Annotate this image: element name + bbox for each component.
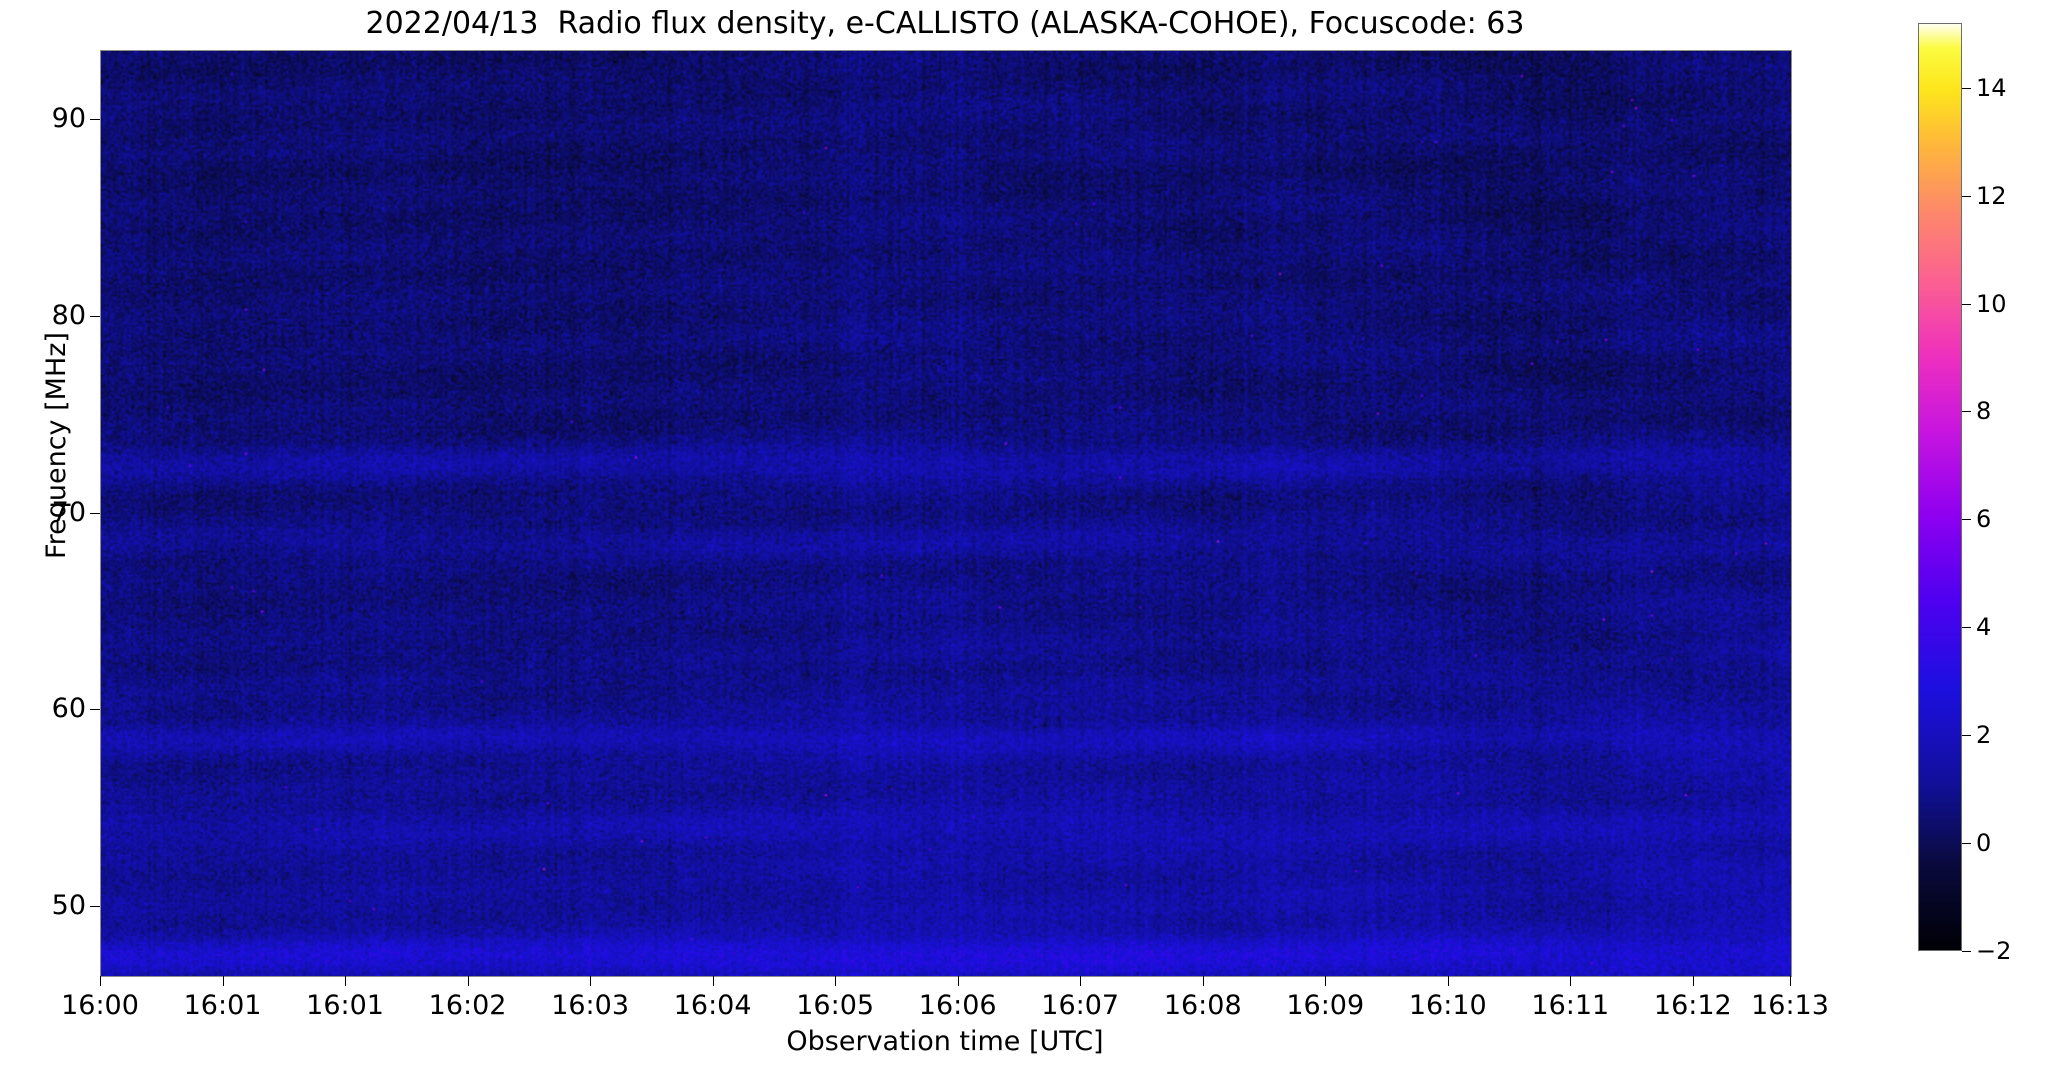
colorbar-tick-mark [1962,519,1971,520]
colorbar-tick-mark [1962,411,1971,412]
x-axis-tick-mark [1325,976,1326,986]
x-axis-tick-mark [1693,976,1694,986]
colorbar-tick-label: −2 [1976,939,2011,963]
x-axis-tick-mark [1448,976,1449,986]
colorbar-tick-mark [1962,843,1971,844]
figure-canvas: 2022/04/13 Radio flux density, e-CALLIST… [0,0,2047,1067]
colorbar-tick-label: 14 [1976,76,2007,100]
y-axis-tick-label: 80 [0,302,86,329]
x-axis-tick-label: 16:13 [1710,992,1870,1019]
y-axis-tick-mark [90,906,100,907]
colorbar-tick-label: 12 [1976,184,2007,208]
x-axis-tick-mark [100,976,101,986]
x-axis-tick-mark [958,976,959,986]
x-axis-tick-mark [1080,976,1081,986]
y-axis-tick-mark [90,513,100,514]
x-axis-label: Observation time [UTC] [100,1026,1790,1057]
colorbar-tick-mark [1962,735,1971,736]
colorbar-gradient [1919,24,1961,950]
y-axis-tick-mark [90,316,100,317]
y-axis-tick-label: 70 [0,499,86,526]
colorbar-tick-label: 4 [1976,615,1991,639]
x-axis-tick-mark [223,976,224,986]
x-axis-tick-mark [1790,976,1791,986]
colorbar-tick-mark [1962,951,1971,952]
x-axis-tick-mark [1570,976,1571,986]
x-axis-tick-mark [345,976,346,986]
colorbar-tick-label: 10 [1976,292,2007,316]
x-axis-tick-mark [468,976,469,986]
x-axis-tick-mark [590,976,591,986]
colorbar-tick-mark [1962,88,1971,89]
colorbar-tick-label: 2 [1976,723,1991,747]
x-axis-tick-mark [835,976,836,986]
colorbar-tick-mark [1962,196,1971,197]
y-axis-tick-label: 90 [0,105,86,132]
page-title: 2022/04/13 Radio flux density, e-CALLIST… [100,6,1790,42]
spectrogram-plot-area [100,50,1792,977]
colorbar-tick-label: 0 [1976,831,1991,855]
y-axis-tick-mark [90,709,100,710]
x-axis-tick-mark [1203,976,1204,986]
colorbar [1918,23,1962,951]
colorbar-tick-mark [1962,627,1971,628]
y-axis-tick-label: 60 [0,695,86,722]
x-axis-tick-mark [713,976,714,986]
colorbar-tick-label: 8 [1976,399,1991,423]
spectrogram-image [101,51,1791,976]
colorbar-tick-label: 6 [1976,507,1991,531]
y-axis-label: Frequency [MHz] [41,0,72,908]
y-axis-tick-mark [90,119,100,120]
colorbar-tick-mark [1962,304,1971,305]
y-axis-tick-label: 50 [0,892,86,919]
